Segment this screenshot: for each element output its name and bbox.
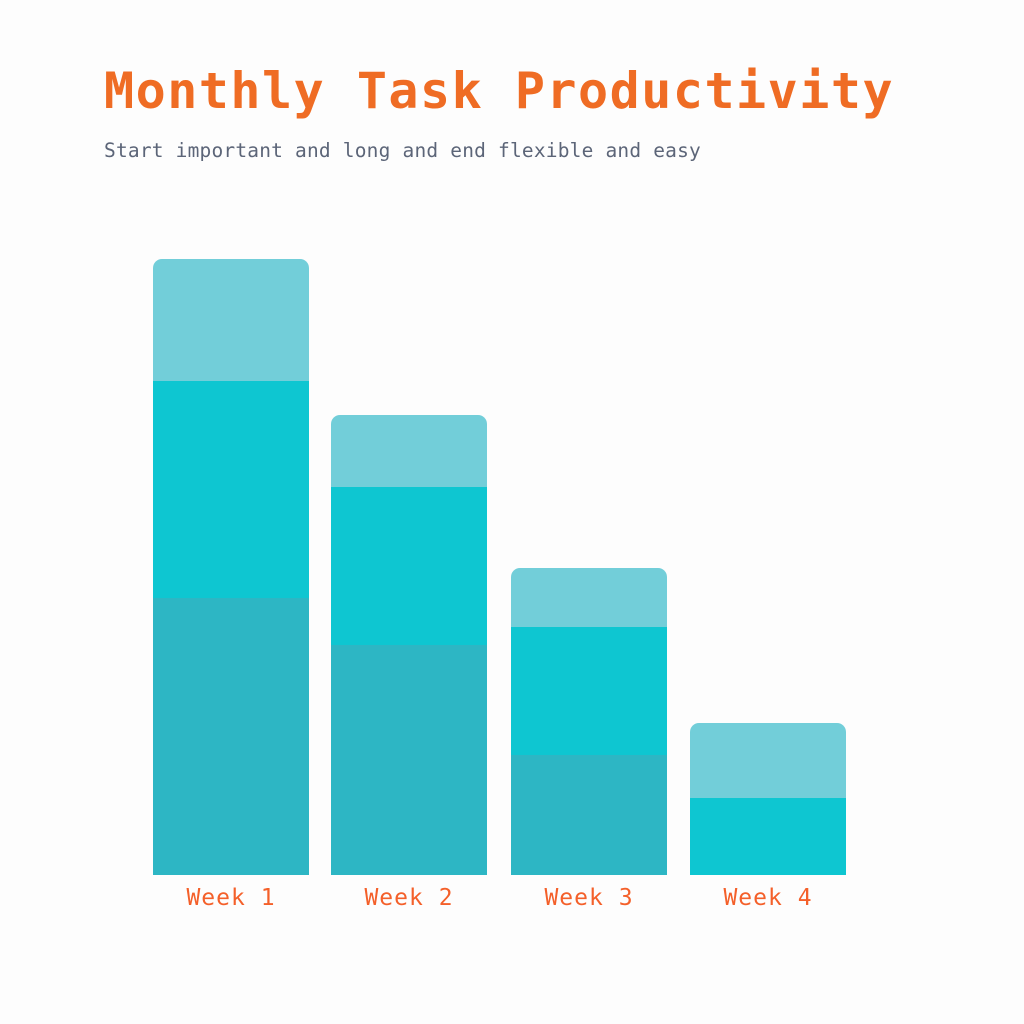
bar-stack[interactable] (690, 723, 846, 875)
bar-segment-dark[interactable] (331, 645, 487, 875)
bar-group[interactable]: Week 3 (511, 568, 667, 875)
bar-category-label: Week 3 (544, 885, 633, 911)
bar-segment-medium[interactable] (331, 487, 487, 645)
bar-category-label: Week 4 (723, 885, 812, 911)
bar-group[interactable]: Week 1 (153, 259, 309, 875)
bar-group[interactable]: Week 2 (331, 415, 487, 875)
bar-stack[interactable] (511, 568, 667, 875)
chart-root: Monthly Task Productivity Start importan… (0, 0, 1024, 1024)
bar-segment-medium[interactable] (690, 798, 846, 875)
bar-segment-light[interactable] (690, 723, 846, 798)
bar-stack[interactable] (331, 415, 487, 875)
bar-segment-light[interactable] (153, 259, 309, 381)
bar-segment-medium[interactable] (153, 381, 309, 598)
bar-category-label: Week 2 (364, 885, 453, 911)
bar-category-label: Week 1 (186, 885, 275, 911)
bar-segment-light[interactable] (331, 415, 487, 487)
bar-segment-dark[interactable] (153, 598, 309, 875)
plot-area: Week 1Week 2Week 3Week 4 (0, 0, 1024, 1024)
bar-segment-dark[interactable] (511, 755, 667, 875)
bar-stack[interactable] (153, 259, 309, 875)
bar-group[interactable]: Week 4 (690, 723, 846, 875)
bar-segment-medium[interactable] (511, 627, 667, 755)
bar-segment-light[interactable] (511, 568, 667, 627)
